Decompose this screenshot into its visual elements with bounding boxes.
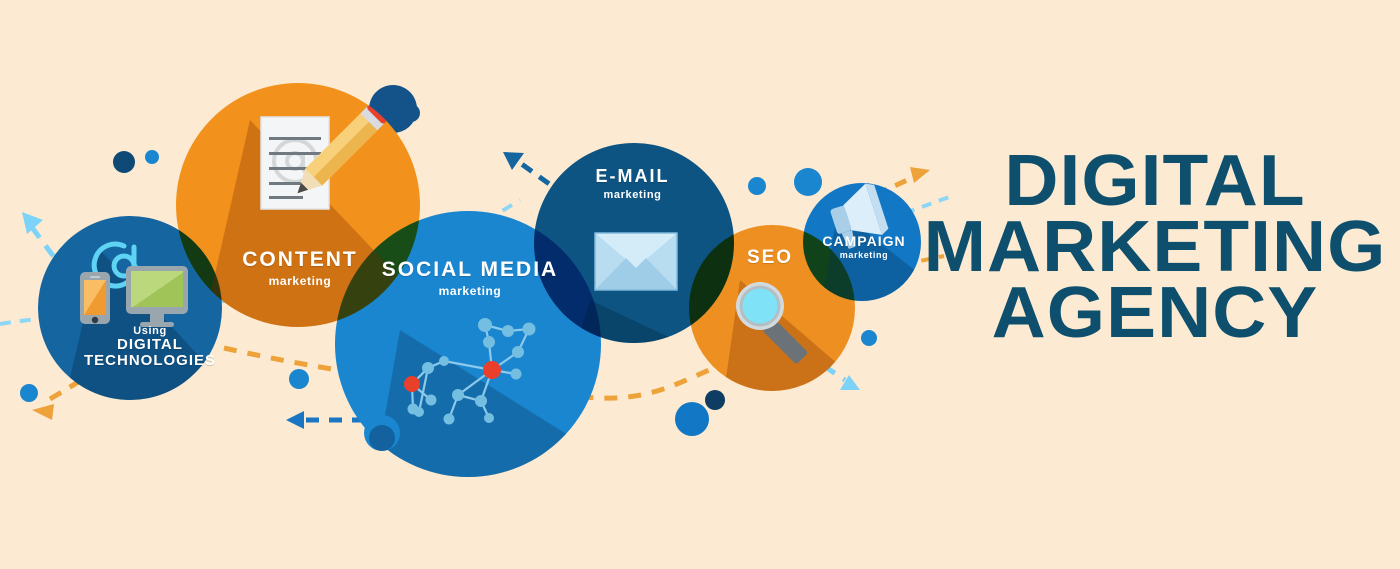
- dashed-line-cyan-right: [905, 196, 952, 213]
- email-marketing-icons: [595, 233, 677, 290]
- envelope-icon: [595, 233, 677, 290]
- infographic-artwork: [0, 0, 1400, 569]
- infographic-canvas: Using DIGITAL TECHNOLOGIES CONTENT marke…: [0, 0, 1400, 569]
- smartphone-icon: [80, 272, 110, 324]
